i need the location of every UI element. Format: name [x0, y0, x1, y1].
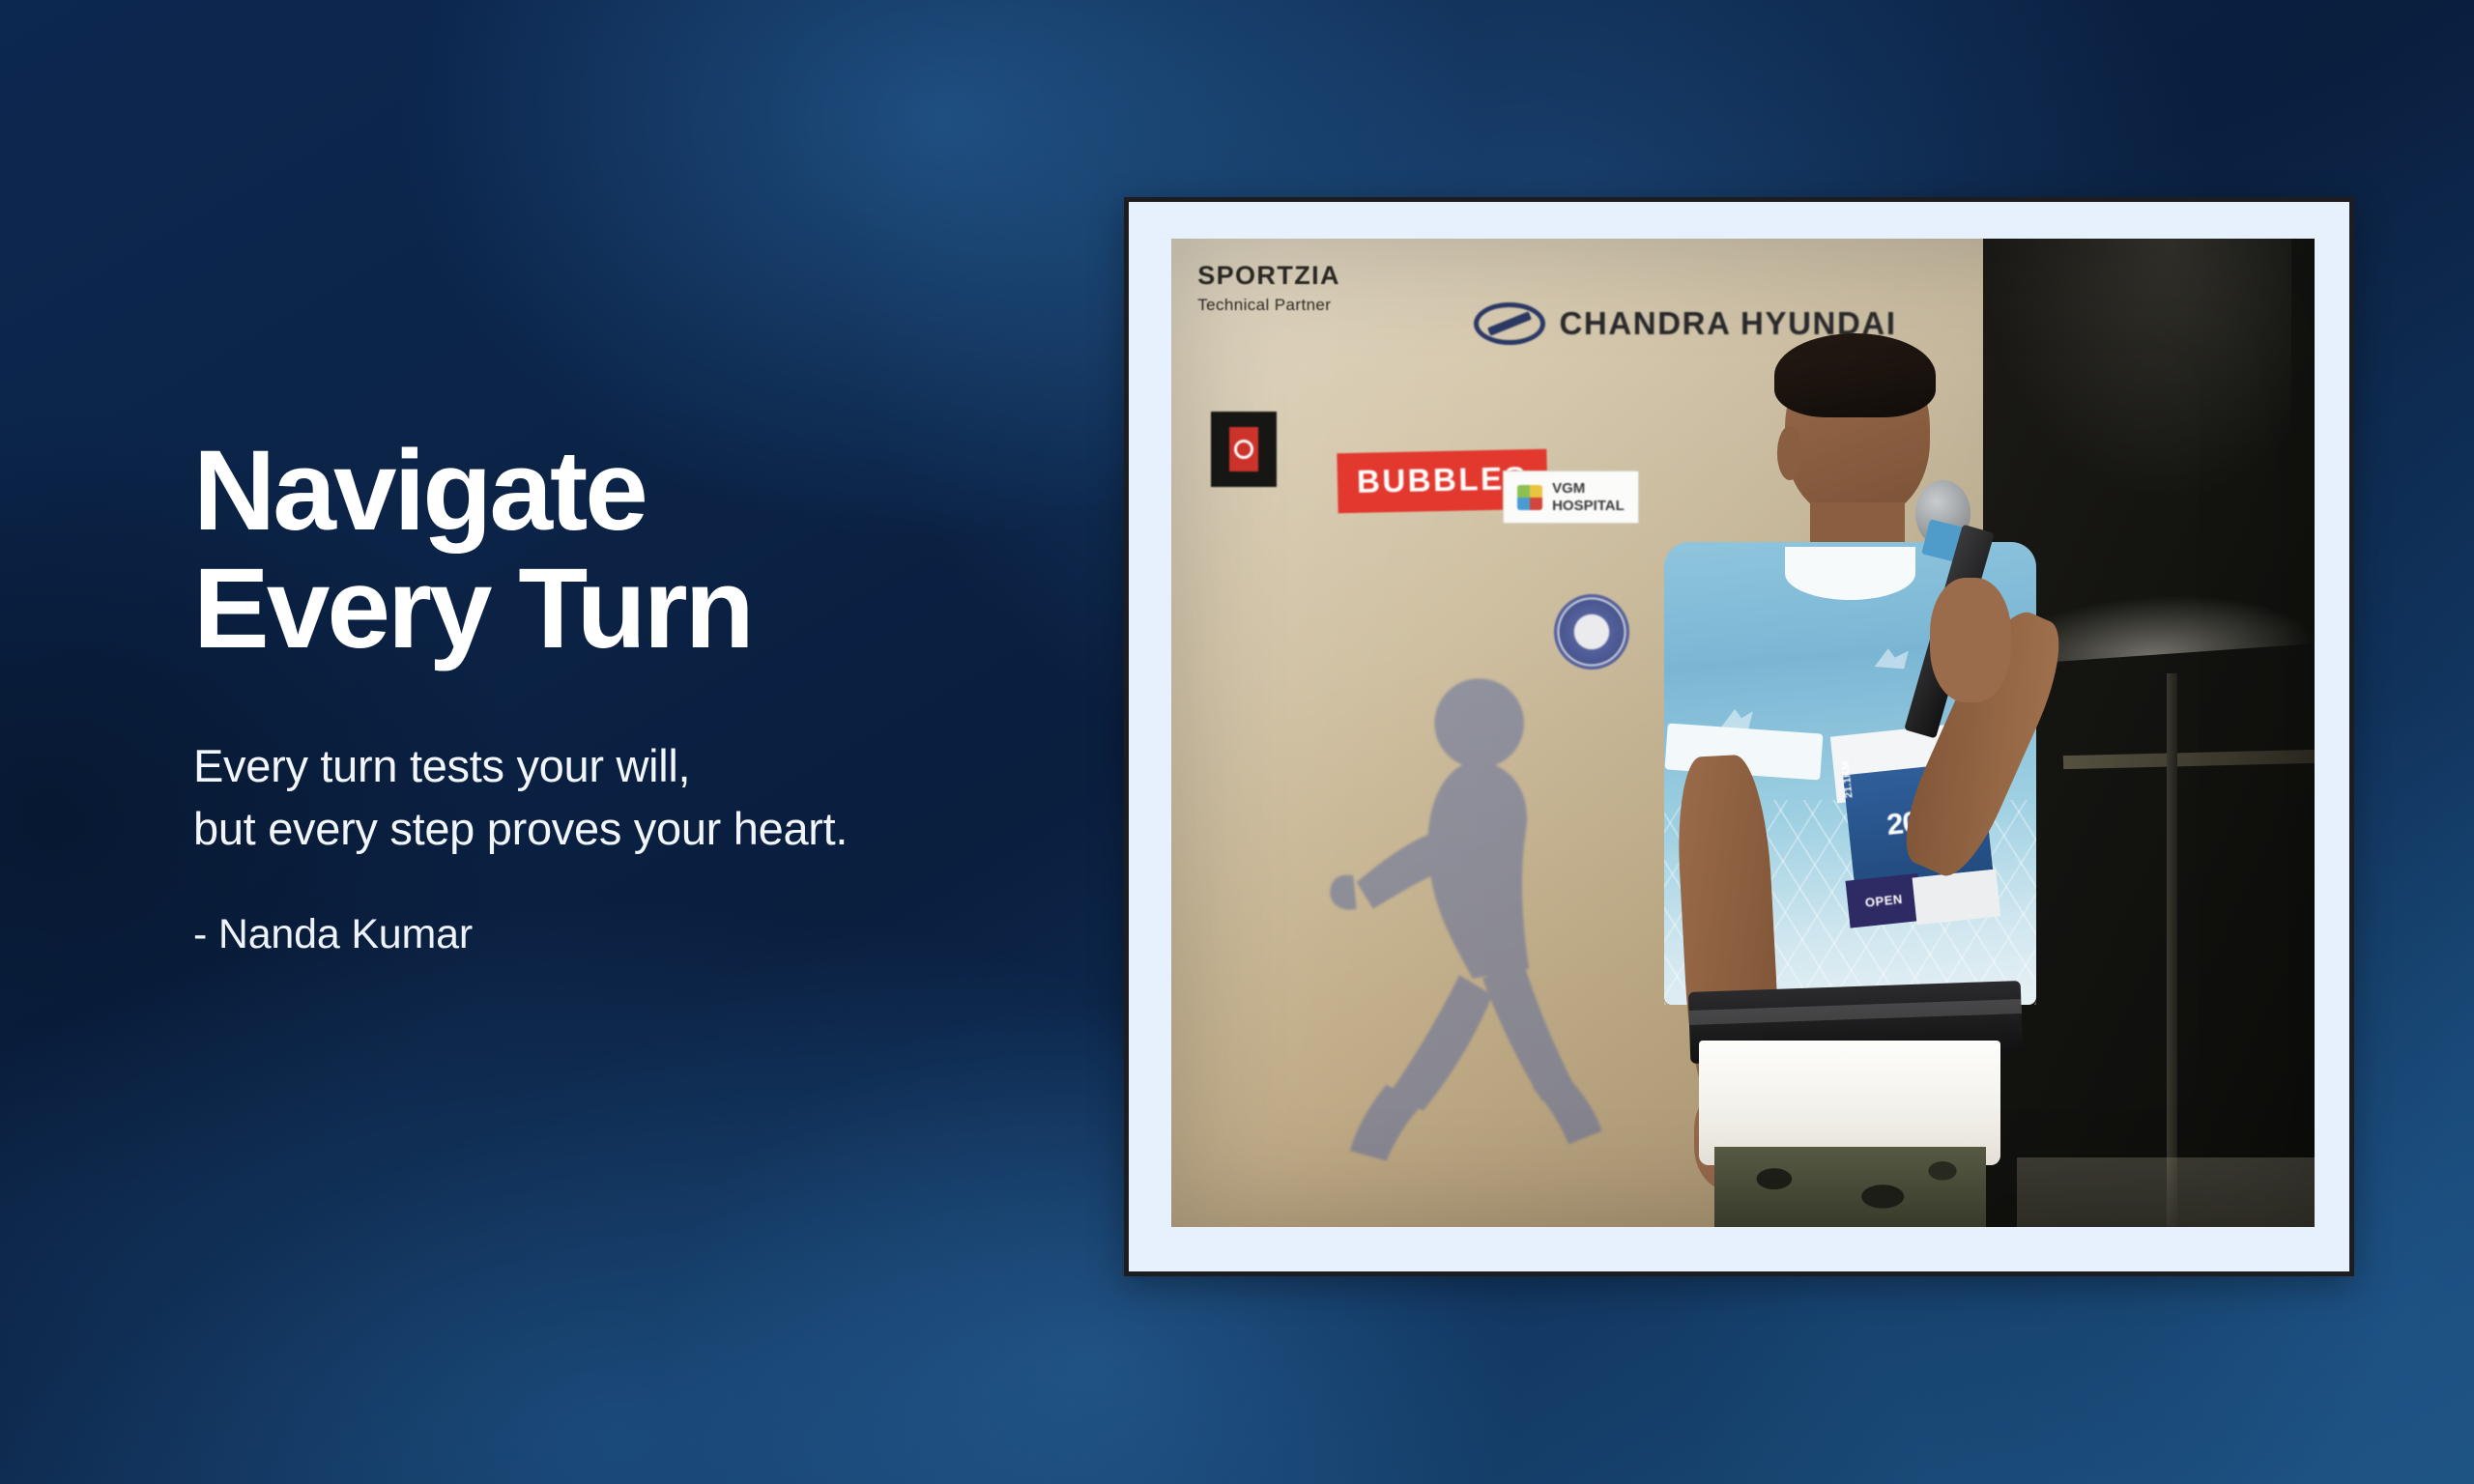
vgm-line1: VGM	[1552, 480, 1585, 497]
bib-category-badge: OPEN	[1845, 873, 1922, 927]
quote-text: Every turn tests your will, but every st…	[193, 735, 1160, 861]
vgm-hospital-logo: VGM HOSPITAL	[1503, 471, 1639, 524]
text-panel: Navigate Every Turn Every turn tests you…	[193, 433, 1160, 958]
speaker-ear	[1777, 426, 1802, 479]
quote-attribution: - Nanda Kumar	[193, 911, 1160, 958]
hyundai-icon	[1474, 302, 1545, 345]
page-title: Navigate Every Turn	[193, 433, 1160, 668]
sportzia-role: Technical Partner	[1197, 296, 1340, 315]
bib-category-label: OPEN	[1864, 892, 1903, 910]
shirt-collar	[1785, 547, 1915, 600]
vgm-icon	[1517, 485, 1542, 510]
chest-brand-icon	[1870, 631, 1915, 684]
sportzia-logo: SPORTZIA Technical Partner	[1197, 261, 1340, 315]
sportzia-name: SPORTZIA	[1197, 261, 1340, 290]
bib-bottom-band	[1912, 870, 2000, 925]
speaker-hair	[1774, 333, 1936, 417]
runner-silhouette-icon	[1320, 629, 1652, 1222]
sponsor-emblem-icon	[1229, 427, 1258, 471]
sleeve-brand-icon	[1714, 694, 1760, 747]
speaker-figure: 2001 21.1KM OPEN	[1628, 337, 2132, 1227]
sponsor-dark-logo	[1211, 412, 1277, 487]
camo-shorts	[1714, 1147, 1986, 1227]
speaker-right-hand	[1930, 578, 2010, 702]
vgm-line2: HOSPITAL	[1552, 498, 1625, 514]
vgm-label: VGM HOSPITAL	[1552, 480, 1625, 514]
fence-pole	[2167, 673, 2177, 1227]
event-photo: SPORTZIA Technical Partner CHANDRA HYUND…	[1171, 239, 2315, 1227]
photo-frame: SPORTZIA Technical Partner CHANDRA HYUND…	[1124, 197, 2354, 1276]
